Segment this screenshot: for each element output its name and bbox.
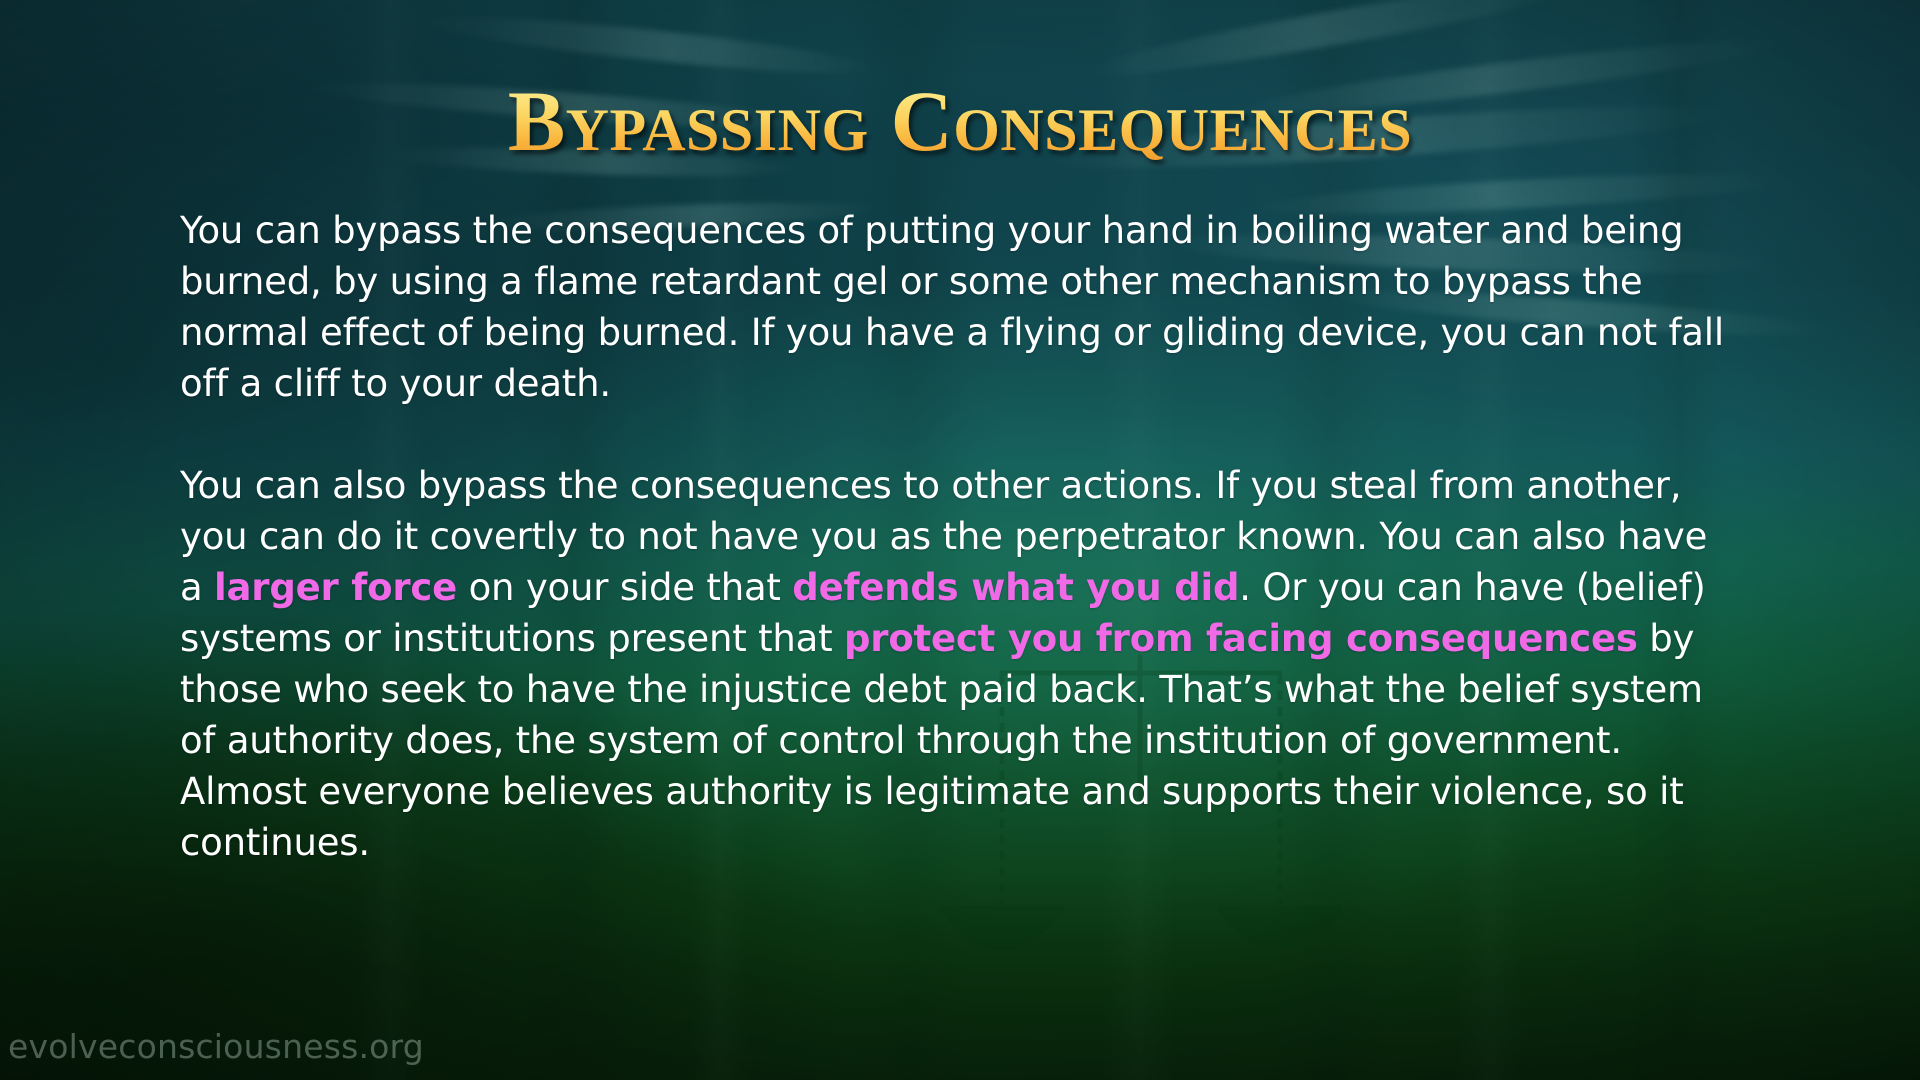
paragraph-1: You can bypass the consequences of putti… (180, 205, 1740, 409)
highlighted-phrase: protect you from facing consequences (844, 617, 1638, 660)
body-text-run: You can bypass the consequences of putti… (180, 209, 1724, 405)
body-text-run: on your side that (457, 566, 792, 609)
presentation-slide: Bypassing Consequences You can bypass th… (0, 0, 1920, 1080)
paragraph-2: You can also bypass the consequences to … (180, 460, 1740, 868)
highlighted-phrase: defends what you did (792, 566, 1239, 609)
site-watermark: evolveconsciousness.org (8, 1027, 424, 1066)
highlighted-phrase: larger force (214, 566, 457, 609)
slide-title: Bypassing Consequences (0, 78, 1920, 164)
slide-body-text: You can bypass the consequences of putti… (180, 205, 1740, 868)
